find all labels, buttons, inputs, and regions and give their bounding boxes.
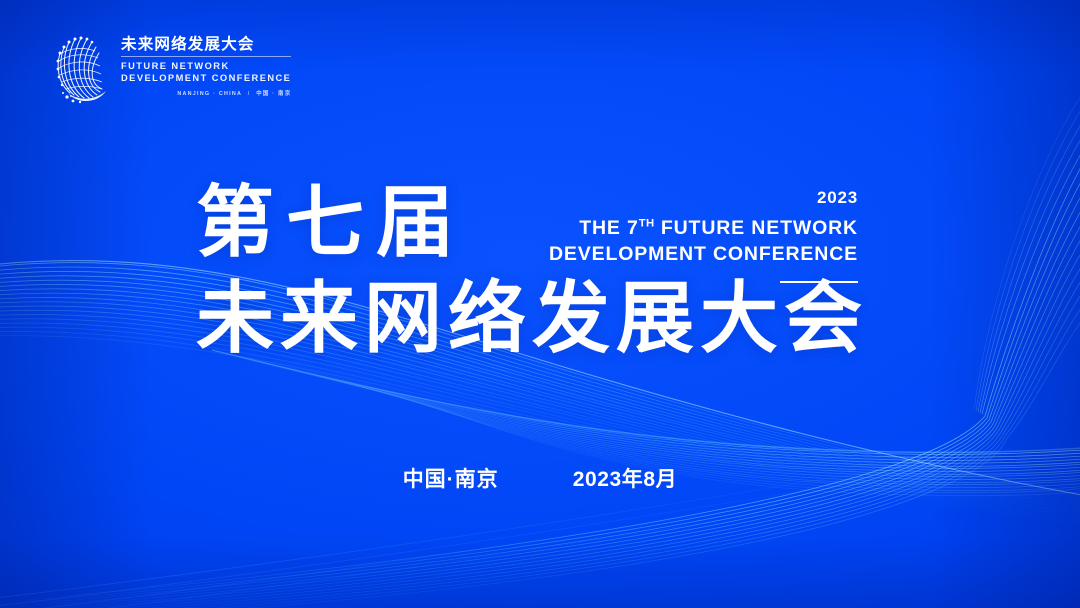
- event-date: 2023年8月: [573, 463, 678, 493]
- english-title-block: 2023 THE 7TH FUTURE NETWORK DEVELOPMENT …: [528, 189, 858, 283]
- english-block-underline: [780, 281, 858, 283]
- english-title-line1-post: FUTURE NETWORK: [655, 217, 858, 239]
- event-details: 中国·南京 2023年8月: [0, 463, 1080, 493]
- english-title-line1: THE 7TH FUTURE NETWORK: [528, 215, 858, 241]
- logo-location-en: NANJING · CHINA: [177, 91, 242, 97]
- logo-location-separator: /: [245, 91, 254, 97]
- conference-poster: 未来网络发展大会 FUTURE NETWORK DEVELOPMENT CONF…: [0, 0, 1080, 608]
- logo-wordmark: 未来网络发展大会 FUTURE NETWORK DEVELOPMENT CONF…: [121, 35, 291, 97]
- ordinal-suffix: TH: [639, 218, 655, 230]
- english-year: 2023: [528, 189, 858, 206]
- fan-network-logo-icon: [48, 27, 112, 105]
- logo-location-cn: 中国 · 南京: [256, 91, 291, 97]
- logo-chinese-name: 未来网络发展大会: [121, 37, 291, 53]
- logo-english-line1: FUTURE NETWORK: [121, 61, 291, 73]
- logo-english-line2: DEVELOPMENT CONFERENCE: [121, 73, 291, 85]
- headline-title: 未来网络发展大会: [196, 279, 886, 357]
- logo-location-line: NANJING · CHINA / 中国 · 南京: [121, 89, 291, 97]
- logo-divider: [121, 56, 291, 57]
- english-title-line2: DEVELOPMENT CONFERENCE: [528, 241, 858, 267]
- event-location: 中国·南京: [403, 463, 499, 493]
- english-title-line1-pre: THE 7: [579, 217, 639, 239]
- conference-logo[interactable]: 未来网络发展大会 FUTURE NETWORK DEVELOPMENT CONF…: [48, 27, 291, 105]
